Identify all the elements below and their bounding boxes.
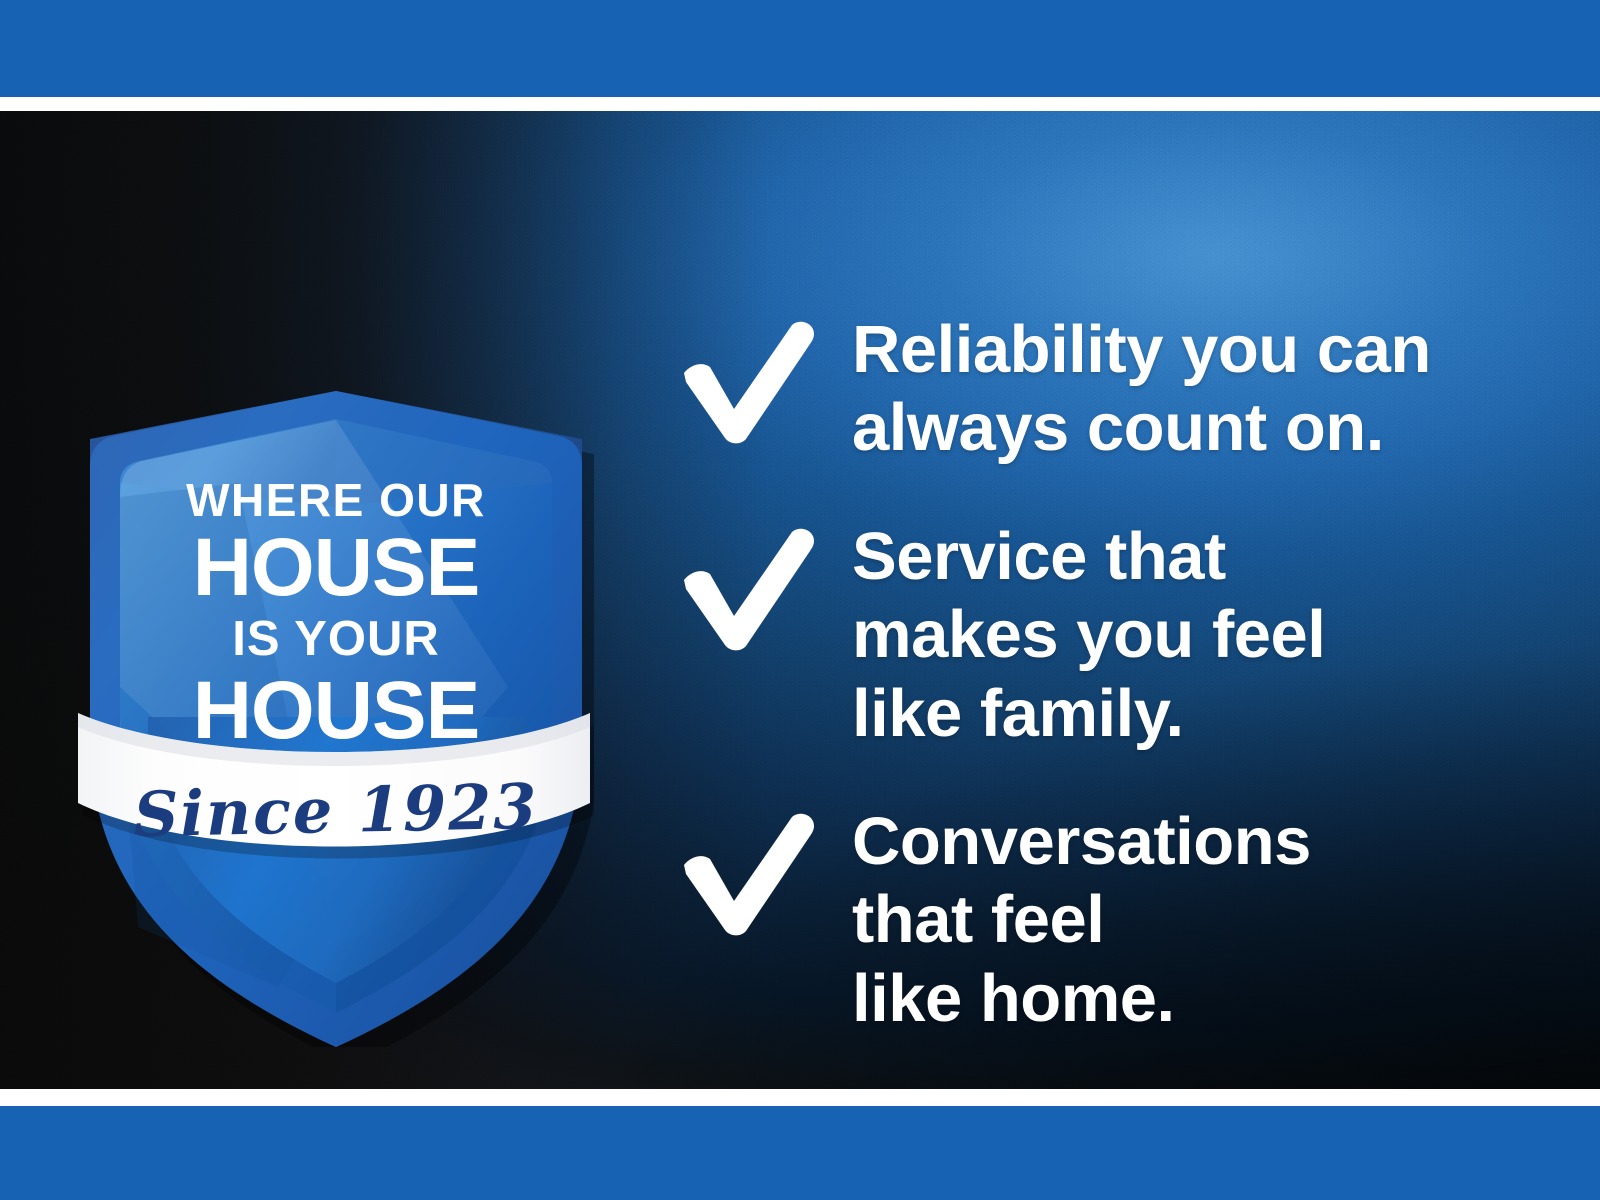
list-item-text: Conversations that feel like home.	[852, 803, 1528, 1038]
promo-graphic: WHERE OUR HOUSE IS YOUR HOUSE Since 1923…	[0, 0, 1600, 1200]
check-icon	[668, 809, 818, 937]
check-icon	[668, 317, 818, 445]
list-item-line: Service that	[852, 518, 1528, 596]
benefit-list: Reliability you can always count on. Ser…	[668, 311, 1528, 1038]
list-item-line: Conversations	[852, 803, 1528, 881]
list-item: Conversations that feel like home.	[668, 803, 1528, 1038]
list-item-line: that feel	[852, 881, 1528, 959]
list-item-line: always count on.	[852, 389, 1528, 467]
shield-icon	[78, 387, 594, 1047]
list-item-text: Reliability you can always count on.	[852, 311, 1528, 468]
check-icon	[668, 524, 818, 652]
list-item-line: like family.	[852, 675, 1528, 753]
list-item: Service that makes you feel like family.	[668, 518, 1528, 753]
shield-badge: WHERE OUR HOUSE IS YOUR HOUSE Since 1923	[78, 387, 594, 1047]
list-item-line: makes you feel	[852, 596, 1528, 674]
main-panel: WHERE OUR HOUSE IS YOUR HOUSE Since 1923…	[0, 111, 1600, 1089]
bottom-brand-bar	[0, 1106, 1600, 1200]
top-brand-bar	[0, 0, 1600, 97]
list-item-line: like home.	[852, 960, 1528, 1038]
list-item-line: Reliability you can	[852, 311, 1528, 389]
list-item: Reliability you can always count on.	[668, 311, 1528, 468]
list-item-text: Service that makes you feel like family.	[852, 518, 1528, 753]
